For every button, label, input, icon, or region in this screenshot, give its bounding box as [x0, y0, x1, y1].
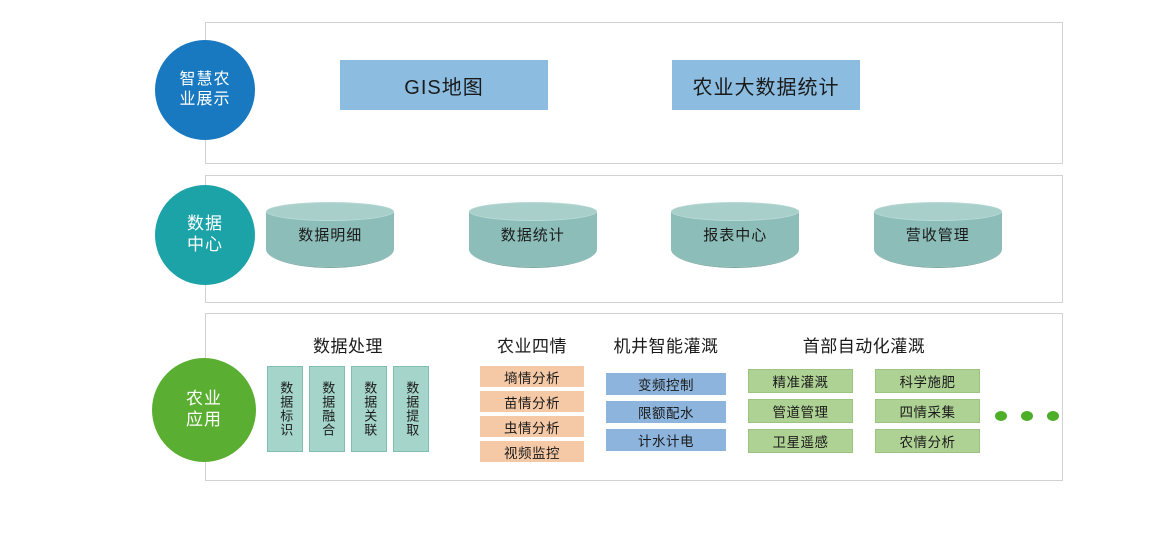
chip-quota-water-distribution[interactable]: 限额配水 [606, 401, 726, 423]
group-data-processing: 数据处理 数据标识 数据融合 数据关联 数据提取 [258, 332, 438, 452]
group-head-automatic-irrigation: 首部自动化灌溉 精准灌溉 管道管理 卫星遥感 科学施肥 四情采集 农情分析 [748, 332, 980, 453]
layer-badge-display-line2: 业展示 [179, 90, 230, 110]
chip-four-conditions-collection[interactable]: 四情采集 [875, 399, 980, 423]
layer-badge-display[interactable]: 智慧农 业展示 [155, 40, 255, 140]
cylinder-label: 报表中心 [671, 224, 799, 245]
group-well-smart-irrigation-title: 机井智能灌溉 [606, 332, 726, 357]
more-items-ellipsis-icon[interactable] [995, 411, 1059, 421]
chip-satellite-remote-sensing[interactable]: 卫星遥感 [748, 429, 853, 453]
group-head-automatic-irrigation-items: 精准灌溉 管道管理 卫星遥感 科学施肥 四情采集 农情分析 [748, 369, 980, 453]
layer-badge-application[interactable]: 农业 应用 [152, 358, 256, 462]
chip-data-extraction[interactable]: 数据提取 [393, 366, 429, 452]
chip-agricultural-condition-analysis[interactable]: 农情分析 [875, 429, 980, 453]
chip-frequency-conversion-control[interactable]: 变频控制 [606, 373, 726, 395]
module-agriculture-big-data-statistics[interactable]: 农业大数据统计 [672, 60, 860, 110]
green-column-one: 精准灌溉 管道管理 卫星遥感 [748, 369, 853, 453]
database-cylinder[interactable]: 营收管理 [874, 202, 1002, 276]
group-data-processing-items: 数据标识 数据融合 数据关联 数据提取 [258, 366, 438, 452]
group-agriculture-four-conditions: 农业四情 墒情分析 苗情分析 虫情分析 视频监控 [480, 332, 584, 462]
module-agriculture-big-data-statistics-label: 农业大数据统计 [693, 71, 840, 100]
database-cylinder[interactable]: 数据统计 [469, 202, 597, 276]
chip-water-electricity-metering[interactable]: 计水计电 [606, 429, 726, 451]
cylinder-top-ellipse [671, 202, 799, 221]
group-head-automatic-irrigation-title: 首部自动化灌溉 [748, 332, 980, 357]
chip-precision-irrigation[interactable]: 精准灌溉 [748, 369, 853, 393]
layer-badge-data-center[interactable]: 数据 中心 [155, 185, 255, 285]
cylinder-top-ellipse [266, 202, 394, 221]
layer-badge-data-center-line2: 中心 [187, 235, 223, 256]
ellipsis-dot [995, 411, 1007, 421]
module-gis-map[interactable]: GIS地图 [340, 60, 548, 110]
module-gis-map-label: GIS地图 [404, 71, 483, 100]
group-agriculture-four-conditions-title: 农业四情 [480, 332, 584, 357]
ellipsis-dot [1021, 411, 1033, 421]
layer-badge-display-line1: 智慧农 [179, 70, 230, 90]
chip-seedling-analysis[interactable]: 苗情分析 [480, 391, 584, 412]
cylinder-top-ellipse [874, 202, 1002, 221]
chip-pest-analysis[interactable]: 虫情分析 [480, 416, 584, 437]
database-cylinder[interactable]: 数据明细 [266, 202, 394, 276]
cylinder-label: 数据明细 [266, 224, 394, 245]
chip-data-identification[interactable]: 数据标识 [267, 366, 303, 452]
group-well-smart-irrigation: 机井智能灌溉 变频控制 限额配水 计水计电 [606, 332, 726, 451]
chip-scientific-fertilization[interactable]: 科学施肥 [875, 369, 980, 393]
group-well-smart-irrigation-items: 变频控制 限额配水 计水计电 [606, 373, 726, 451]
database-cylinder[interactable]: 报表中心 [671, 202, 799, 276]
chip-soil-moisture-analysis[interactable]: 墒情分析 [480, 366, 584, 387]
group-agriculture-four-conditions-items: 墒情分析 苗情分析 虫情分析 视频监控 [480, 366, 584, 462]
chip-data-association[interactable]: 数据关联 [351, 366, 387, 452]
layer-badge-application-line1: 农业 [186, 389, 222, 410]
chip-pipeline-management[interactable]: 管道管理 [748, 399, 853, 423]
ellipsis-dot [1047, 411, 1059, 421]
chip-video-monitoring[interactable]: 视频监控 [480, 441, 584, 462]
layer-badge-application-line2: 应用 [186, 410, 222, 431]
cylinder-top-ellipse [469, 202, 597, 221]
green-column-two: 科学施肥 四情采集 农情分析 [875, 369, 980, 453]
chip-data-fusion[interactable]: 数据融合 [309, 366, 345, 452]
group-data-processing-title: 数据处理 [258, 332, 438, 357]
layer-badge-data-center-line1: 数据 [187, 214, 223, 235]
cylinder-label: 营收管理 [874, 224, 1002, 245]
display-layer-panel [205, 22, 1063, 164]
cylinder-label: 数据统计 [469, 224, 597, 245]
